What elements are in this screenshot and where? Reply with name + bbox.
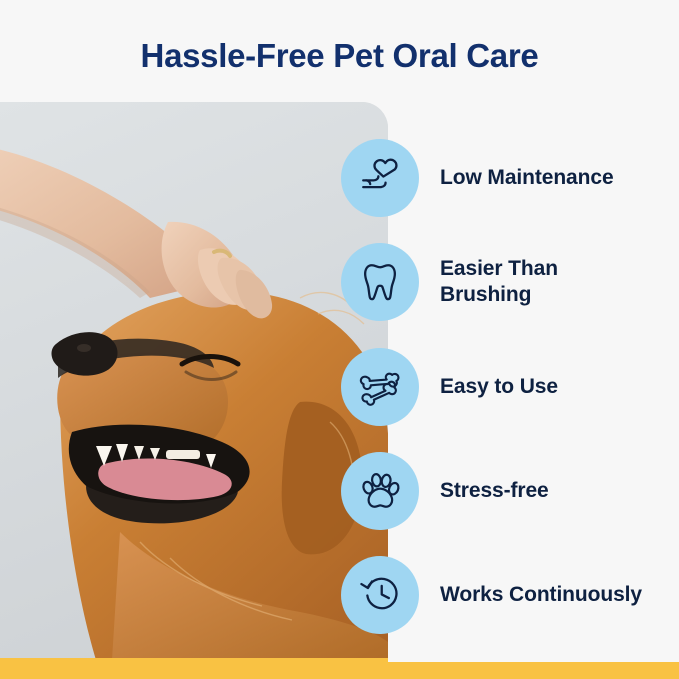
feature-item-easier-than-brushing: Easier Than Brushing [341,243,679,321]
feature-item-stress-free: Stress-free [341,452,679,530]
feature-item-works-continuously: Works Continuously [341,556,679,634]
paw-print-icon [341,452,419,530]
clock-refresh-glyph [357,572,403,618]
feature-item-easy-to-use: Easy to Use [341,348,679,426]
dog-bones-icon [341,348,419,426]
clock-refresh-icon [341,556,419,634]
accent-bar-bottom [0,662,679,679]
feature-label: Works Continuously [440,582,642,608]
heart-in-hand-glyph [357,155,403,201]
paw-print-glyph [357,468,403,514]
tooth-icon [341,243,419,321]
dog-photo-illustration [0,102,388,660]
feature-label: Easy to Use [440,374,558,400]
tooth-glyph [357,259,403,305]
feature-label: Stress-free [440,478,549,504]
heart-in-hand-icon [341,139,419,217]
feature-label: Low Maintenance [440,165,614,191]
infographic-page: Hassle-Free Pet Oral Care [0,0,679,679]
feature-list: Low Maintenance Easier Than Brushing [341,126,679,646]
feature-label: Easier Than Brushing [440,256,650,309]
hero-photo [0,102,388,660]
feature-item-low-maintenance: Low Maintenance [341,139,679,217]
dog-bones-glyph [357,364,403,410]
page-title: Hassle-Free Pet Oral Care [0,38,679,74]
